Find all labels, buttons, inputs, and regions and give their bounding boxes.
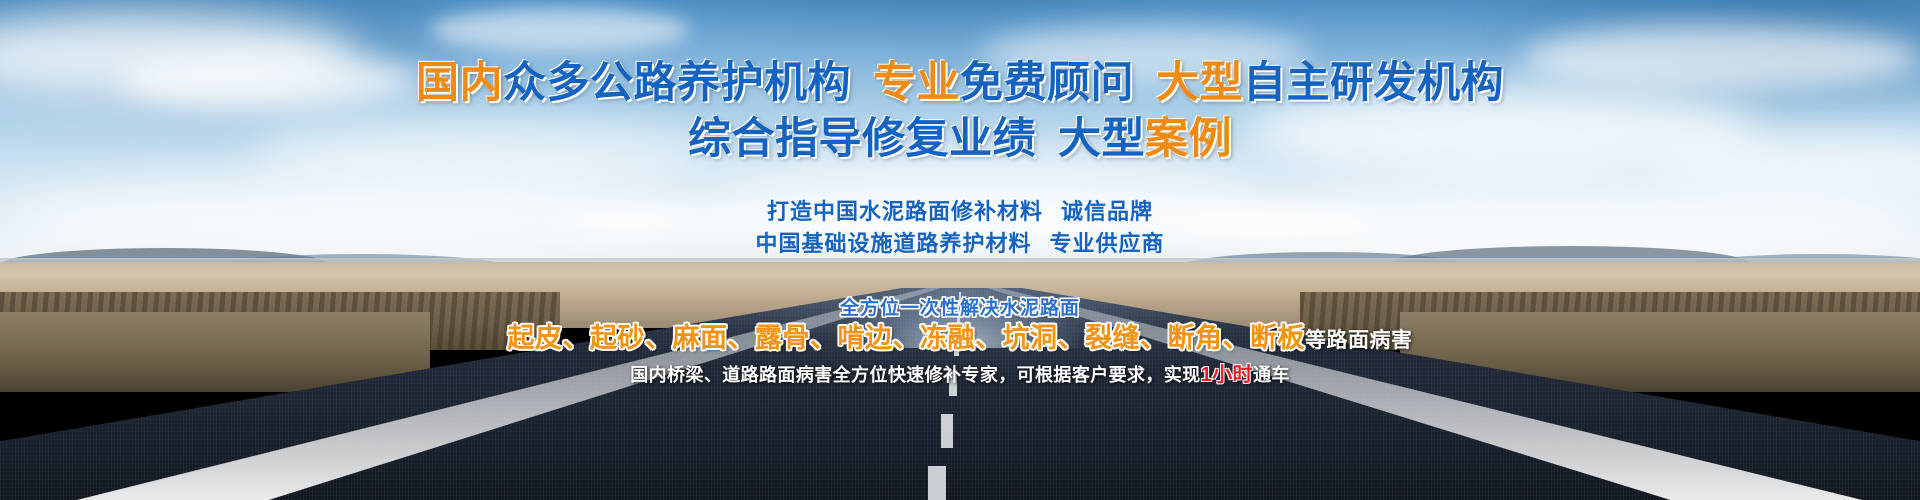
center-dash — [941, 414, 953, 448]
promotional-banner: 国内众多公路养护机构专业免费顾问大型自主研发机构 综合指导修复业绩大型案例 打造… — [0, 0, 1920, 500]
center-dash — [928, 466, 946, 500]
headline-segment-orange: 专业 — [873, 59, 960, 107]
headline-segment-blue: 自主研发机构 — [1243, 59, 1504, 107]
headline-segment-blue: 综合指导修复业绩 — [688, 115, 1036, 163]
subtitle-line-1: 打造中国水泥路面修补材料诚信品牌 — [0, 194, 1920, 226]
road-copy-line-2: 起皮、起砂、麻面、露骨、啃边、冻融、坑洞、裂缝、断角、断板等路面病害 — [0, 316, 1920, 355]
road-copy-line-3: 国内桥梁、道路路面病害全方位快速修补专家，可根据客户要求，实现1小时通车 — [0, 358, 1920, 387]
headline-line-1: 国内众多公路养护机构专业免费顾问大型自主研发机构 — [0, 48, 1920, 110]
subtitle-text-secondary: 专业供应商 — [1050, 231, 1165, 256]
subtitle-line-2: 中国基础设施道路养护材料专业供应商 — [0, 226, 1920, 258]
headline-segment-orange: 案例 — [1145, 115, 1232, 163]
headline-line-2: 综合指导修复业绩大型案例 — [0, 104, 1920, 166]
guarantee-text-prefix: 国内桥梁、道路路面病害全方位快速修补专家，可根据客户要求，实现 — [630, 365, 1200, 385]
guarantee-text-suffix: 通车 — [1253, 365, 1290, 385]
cloud-shape — [430, 8, 690, 52]
disease-list-suffix: 等路面病害 — [1305, 329, 1413, 352]
headline-segment-orange: 大型 — [1156, 59, 1243, 107]
subtitle-text-secondary: 诚信品牌 — [1061, 199, 1153, 224]
guarantee-highlight: 1小时 — [1201, 364, 1253, 386]
subtitle-text-primary: 中国基础设施道路养护材料 — [755, 231, 1031, 256]
disease-list-text: 起皮、起砂、麻面、露骨、啃边、冻融、坑洞、裂缝、断角、断板 — [508, 323, 1306, 353]
subtitle-text-primary: 打造中国水泥路面修补材料 — [767, 199, 1043, 224]
headline-segment-blue: 免费顾问 — [960, 59, 1134, 107]
headline-segment-blue: 大型 — [1058, 115, 1145, 163]
headline-segment-orange: 国内 — [416, 59, 503, 107]
headline-segment-blue: 众多公路养护机构 — [503, 59, 851, 107]
